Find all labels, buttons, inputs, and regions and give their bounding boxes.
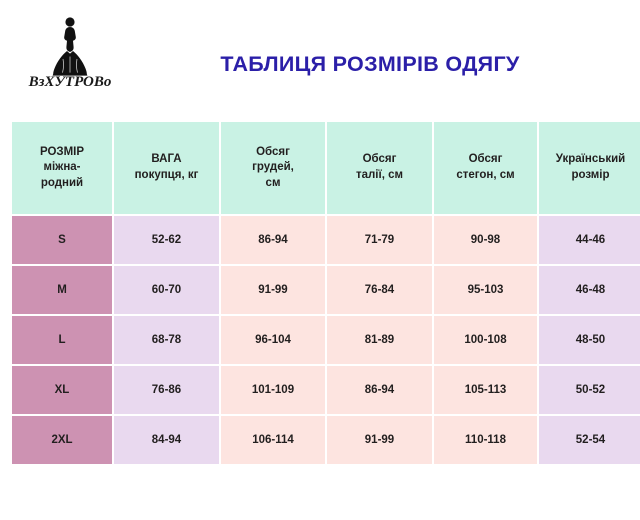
table-row: M 60-70 91-99 76-84 95-103 46-48 [12,266,640,314]
cell-ua-size: 48-50 [539,316,640,364]
cell-bust: 106-114 [221,416,325,464]
column-header-hips: Обсяг стегон, см [434,122,537,214]
cell-ua-size: 44-46 [539,216,640,264]
cell-size: M [12,266,112,314]
column-header-size: РОЗМІР міжна- родний [12,122,112,214]
cell-weight: 60-70 [114,266,219,314]
page-title: ТАБЛИЦЯ РОЗМІРІВ ОДЯГУ [120,52,620,77]
cell-hips: 110-118 [434,416,537,464]
cell-waist: 81-89 [327,316,432,364]
cell-hips: 90-98 [434,216,537,264]
cell-bust: 91-99 [221,266,325,314]
cell-bust: 101-109 [221,366,325,414]
cell-bust: 96-104 [221,316,325,364]
column-header-ua-size: Український розмір [539,122,640,214]
page-header: ВзХУТРОВо ТАБЛИЦЯ РОЗМІРІВ ОДЯГУ [0,0,640,120]
table-row: XL 76-86 101-109 86-94 105-113 50-52 [12,366,640,414]
table-row: S 52-62 86-94 71-79 90-98 44-46 [12,216,640,264]
cell-waist: 76-84 [327,266,432,314]
cell-hips: 95-103 [434,266,537,314]
table-header-row: РОЗМІР міжна- родний ВАГА покупця, кг Об… [12,122,640,214]
cell-size: 2XL [12,416,112,464]
brand-logo: ВзХУТРОВо [18,14,118,106]
cell-size: XL [12,366,112,414]
column-header-bust: Обсяг грудей, см [221,122,325,214]
cell-weight: 68-78 [114,316,219,364]
cell-weight: 52-62 [114,216,219,264]
size-table: РОЗМІР міжна- родний ВАГА покупця, кг Об… [10,120,640,466]
table-header: РОЗМІР міжна- родний ВАГА покупця, кг Об… [12,122,640,214]
cell-waist: 91-99 [327,416,432,464]
table-row: 2XL 84-94 106-114 91-99 110-118 52-54 [12,416,640,464]
cell-hips: 105-113 [434,366,537,414]
cell-ua-size: 50-52 [539,366,640,414]
dress-mannequin-icon [18,14,122,80]
size-table-container: РОЗМІР міжна- родний ВАГА покупця, кг Об… [10,120,630,466]
cell-bust: 86-94 [221,216,325,264]
cell-ua-size: 52-54 [539,416,640,464]
table-body: S 52-62 86-94 71-79 90-98 44-46 M 60-70 … [12,216,640,464]
cell-size: S [12,216,112,264]
cell-hips: 100-108 [434,316,537,364]
cell-ua-size: 46-48 [539,266,640,314]
column-header-waist: Обсяг талії, см [327,122,432,214]
size-chart-page: ВзХУТРОВо ТАБЛИЦЯ РОЗМІРІВ ОДЯГУ РОЗМІР … [0,0,640,520]
cell-waist: 86-94 [327,366,432,414]
cell-weight: 84-94 [114,416,219,464]
cell-waist: 71-79 [327,216,432,264]
brand-logo-text: ВзХУТРОВо [18,74,122,91]
cell-weight: 76-86 [114,366,219,414]
cell-size: L [12,316,112,364]
column-header-weight: ВАГА покупця, кг [114,122,219,214]
table-row: L 68-78 96-104 81-89 100-108 48-50 [12,316,640,364]
